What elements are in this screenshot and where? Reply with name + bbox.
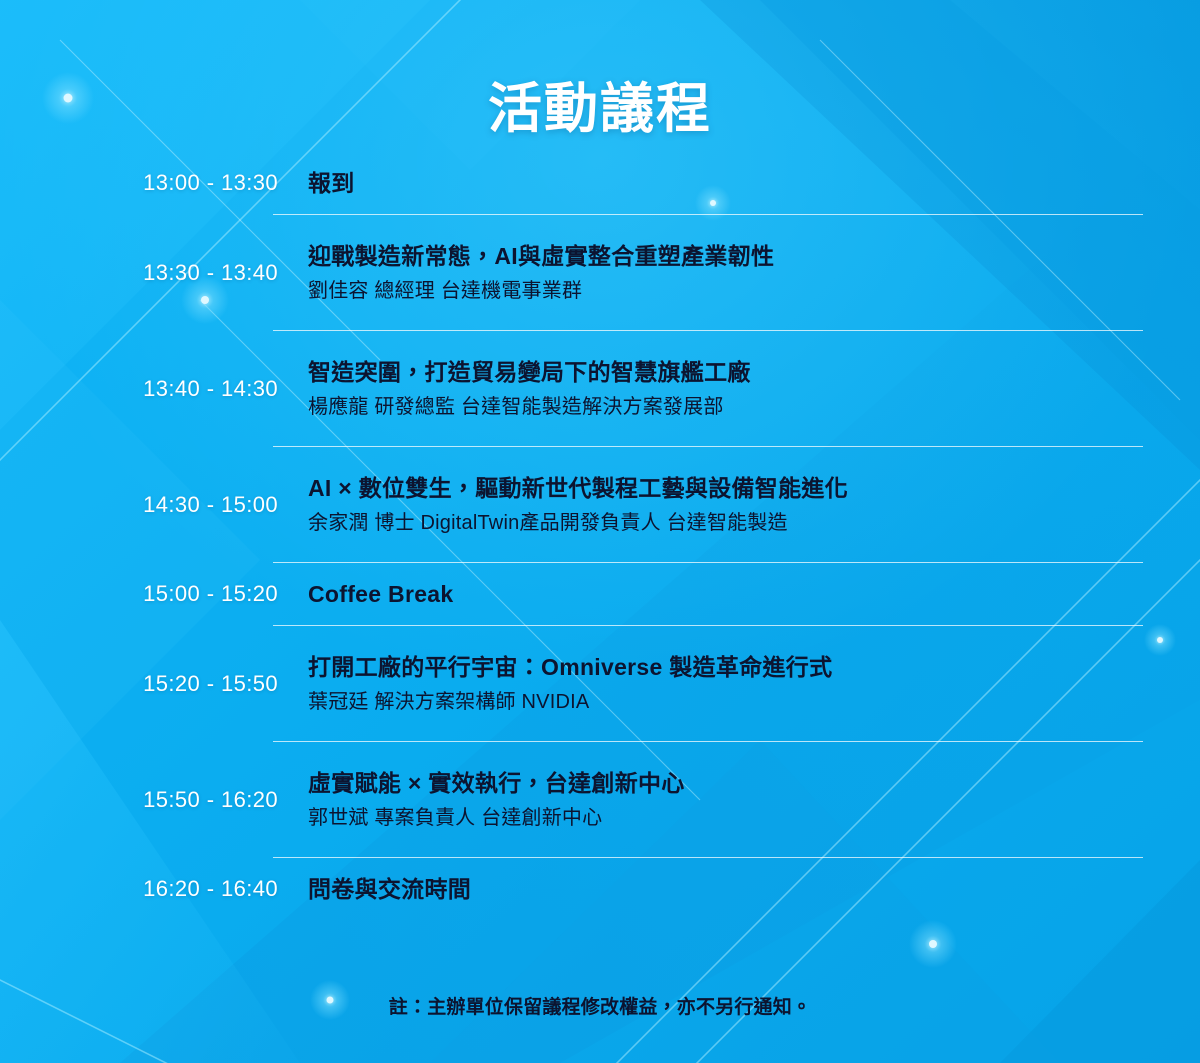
agenda-poster: 活動議程 13:00 - 13:30報到13:30 - 13:40迎戰製造新常態…: [0, 0, 1200, 1063]
agenda-row-body: 智造突圍，打造貿易變局下的智慧旗艦工廠楊應龍 研發總監 台達智能製造解決方案發展…: [278, 355, 1200, 423]
agenda-row-body: 報到: [278, 166, 1200, 200]
agenda-row-time: 14:30 - 15:00: [0, 491, 278, 519]
agenda-row-topic: 迎戰製造新常態，AI與虛實整合重塑產業韌性: [308, 239, 1160, 273]
agenda-row-time: 13:00 - 13:30: [0, 169, 278, 197]
agenda-row-topic: Coffee Break: [308, 577, 1160, 611]
agenda-row-speaker: 郭世斌 專案負責人 台達創新中心: [308, 802, 1160, 834]
agenda-row-body: AI × 數位雙生，驅動新世代製程工藝與設備智能進化余家潤 博士 Digital…: [278, 471, 1200, 539]
agenda-row-speaker: 余家潤 博士 DigitalTwin產品開發負責人 台達智能製造: [308, 507, 1160, 539]
agenda-row: 13:00 - 13:30報到: [0, 152, 1200, 214]
agenda-row-time: 15:20 - 15:50: [0, 670, 278, 698]
agenda-footnote: 註：主辦單位保留議程修改權益，亦不另行通知。: [0, 995, 1200, 1021]
agenda-row-topic: 虛實賦能 × 實效執行，台達創新中心: [308, 766, 1160, 800]
agenda-row-body: Coffee Break: [278, 577, 1200, 611]
agenda-row-time: 15:00 - 15:20: [0, 580, 278, 608]
agenda-row-topic: 問卷與交流時間: [308, 872, 1160, 906]
agenda-row-speaker: 葉冠廷 解決方案架構師 NVIDIA: [308, 686, 1160, 718]
agenda-row: 13:30 - 13:40迎戰製造新常態，AI與虛實整合重塑產業韌性劉佳容 總經…: [0, 215, 1200, 330]
agenda-row-topic: 打開工廠的平行宇宙：Omniverse 製造革命進行式: [308, 650, 1160, 684]
agenda-row-body: 問卷與交流時間: [278, 872, 1200, 906]
agenda-row-time: 16:20 - 16:40: [0, 875, 278, 903]
agenda-row-time: 13:40 - 14:30: [0, 375, 278, 403]
agenda-row-time: 13:30 - 13:40: [0, 259, 278, 287]
agenda-row: 15:20 - 15:50打開工廠的平行宇宙：Omniverse 製造革命進行式…: [0, 626, 1200, 741]
agenda-row-body: 虛實賦能 × 實效執行，台達創新中心郭世斌 專案負責人 台達創新中心: [278, 766, 1200, 834]
agenda-row: 15:00 - 15:20Coffee Break: [0, 563, 1200, 625]
agenda-row: 13:40 - 14:30智造突圍，打造貿易變局下的智慧旗艦工廠楊應龍 研發總監…: [0, 331, 1200, 446]
agenda-row: 15:50 - 16:20虛實賦能 × 實效執行，台達創新中心郭世斌 專案負責人…: [0, 742, 1200, 857]
agenda-row-topic: 報到: [308, 166, 1160, 200]
agenda-row: 14:30 - 15:00AI × 數位雙生，驅動新世代製程工藝與設備智能進化余…: [0, 447, 1200, 562]
agenda-row-speaker: 劉佳容 總經理 台達機電事業群: [308, 275, 1160, 307]
page-title: 活動議程: [0, 78, 1200, 140]
agenda-row-body: 迎戰製造新常態，AI與虛實整合重塑產業韌性劉佳容 總經理 台達機電事業群: [278, 239, 1200, 307]
agenda-row-speaker: 楊應龍 研發總監 台達智能製造解決方案發展部: [308, 391, 1160, 423]
agenda-row-topic: AI × 數位雙生，驅動新世代製程工藝與設備智能進化: [308, 471, 1160, 505]
agenda-list: 13:00 - 13:30報到13:30 - 13:40迎戰製造新常態，AI與虛…: [0, 152, 1200, 920]
agenda-row-body: 打開工廠的平行宇宙：Omniverse 製造革命進行式葉冠廷 解決方案架構師 N…: [278, 650, 1200, 718]
agenda-row: 16:20 - 16:40問卷與交流時間: [0, 858, 1200, 920]
agenda-row-topic: 智造突圍，打造貿易變局下的智慧旗艦工廠: [308, 355, 1160, 389]
agenda-row-time: 15:50 - 16:20: [0, 786, 278, 814]
